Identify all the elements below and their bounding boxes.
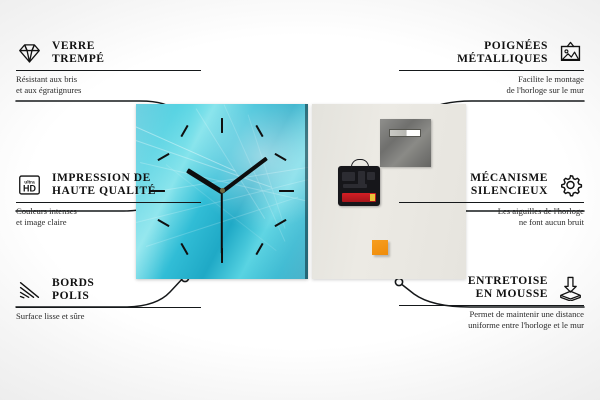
feature-poignees-metalliques: POIGNÉESMÉTALLIQUES Facilite le montaged… [399, 40, 584, 96]
picture-frame-hook-icon [557, 40, 584, 66]
hands-center-cap [220, 188, 225, 193]
infographic-canvas: VERRETREMPÉ Résistant aux briset aux égr… [0, 0, 600, 400]
diamond-icon [16, 40, 43, 66]
foam-spacer-pad [372, 240, 388, 255]
feature-header: ultra HD IMPRESSION DEHAUTE QUALITÉ [16, 172, 201, 198]
feature-subtitle: Les aiguilles de l'horlogene font aucun … [399, 206, 584, 227]
divider [399, 70, 584, 71]
tick-11 [180, 125, 188, 137]
feature-mecanisme-silencieux: MÉCANISMESILENCIEUX Les aiguilles de l'h… [399, 172, 584, 228]
movement-detail-a [342, 172, 355, 181]
feature-subtitle: Facilite le montagede l'horloge sur le m… [399, 74, 584, 95]
second-hand [221, 192, 223, 254]
tick-10 [157, 153, 169, 161]
feature-header: BORDSPOLIS [16, 277, 201, 303]
movement-detail-c [367, 172, 375, 180]
tick-1 [255, 125, 263, 137]
feature-title: BORDSPOLIS [52, 277, 94, 302]
tick-3 [279, 190, 294, 192]
feature-title: ENTRETOISEEN MOUSSE [468, 275, 548, 300]
feature-subtitle: Couleurs intenseset image claire [16, 206, 201, 227]
tick-4 [274, 219, 286, 227]
arrow-down-pad-icon [557, 275, 584, 301]
gear-icon [557, 172, 584, 198]
movement-detail-b [358, 171, 365, 185]
movement-detail-d [343, 184, 367, 188]
aa-battery [342, 193, 376, 202]
minute-hand [221, 157, 268, 194]
bevel-lines-icon [16, 277, 43, 303]
hanging-loop-icon [351, 159, 369, 169]
feature-subtitle: Permet de maintenir une distanceuniforme… [399, 309, 584, 330]
quartz-movement [338, 166, 380, 206]
feature-subtitle: Surface lisse et sûre [16, 311, 201, 322]
divider [16, 202, 201, 203]
tick-2 [274, 153, 286, 161]
svg-text:HD: HD [23, 184, 36, 194]
feature-header: VERRETREMPÉ [16, 40, 201, 66]
divider [399, 305, 584, 306]
feature-title: POIGNÉESMÉTALLIQUES [457, 40, 548, 65]
tick-5 [255, 243, 263, 255]
feature-header: ENTRETOISEEN MOUSSE [399, 275, 584, 301]
ultra-hd-icon: ultra HD [16, 172, 43, 198]
feature-bords-polis: BORDSPOLIS Surface lisse et sûre [16, 277, 201, 322]
feature-title: VERRETREMPÉ [52, 40, 105, 65]
divider [16, 70, 201, 71]
tick-12 [221, 118, 223, 133]
feature-header: POIGNÉESMÉTALLIQUES [399, 40, 584, 66]
feature-verre-trempe: VERRETREMPÉ Résistant aux briset aux égr… [16, 40, 201, 96]
divider [399, 202, 584, 203]
feature-header: MÉCANISMESILENCIEUX [399, 172, 584, 198]
feature-title: IMPRESSION DEHAUTE QUALITÉ [52, 172, 156, 197]
divider [16, 307, 201, 308]
feature-subtitle: Résistant aux briset aux égratignures [16, 74, 201, 95]
metal-hanger-plate [380, 119, 431, 167]
feature-impression-haute-qualite: ultra HD IMPRESSION DEHAUTE QUALITÉ Coul… [16, 172, 201, 228]
feature-title: MÉCANISMESILENCIEUX [470, 172, 548, 197]
tick-7 [180, 243, 188, 255]
feature-entretoise-en-mousse: ENTRETOISEEN MOUSSE Permet de maintenir … [399, 275, 584, 331]
hanger-keyhole-slot [389, 129, 421, 137]
